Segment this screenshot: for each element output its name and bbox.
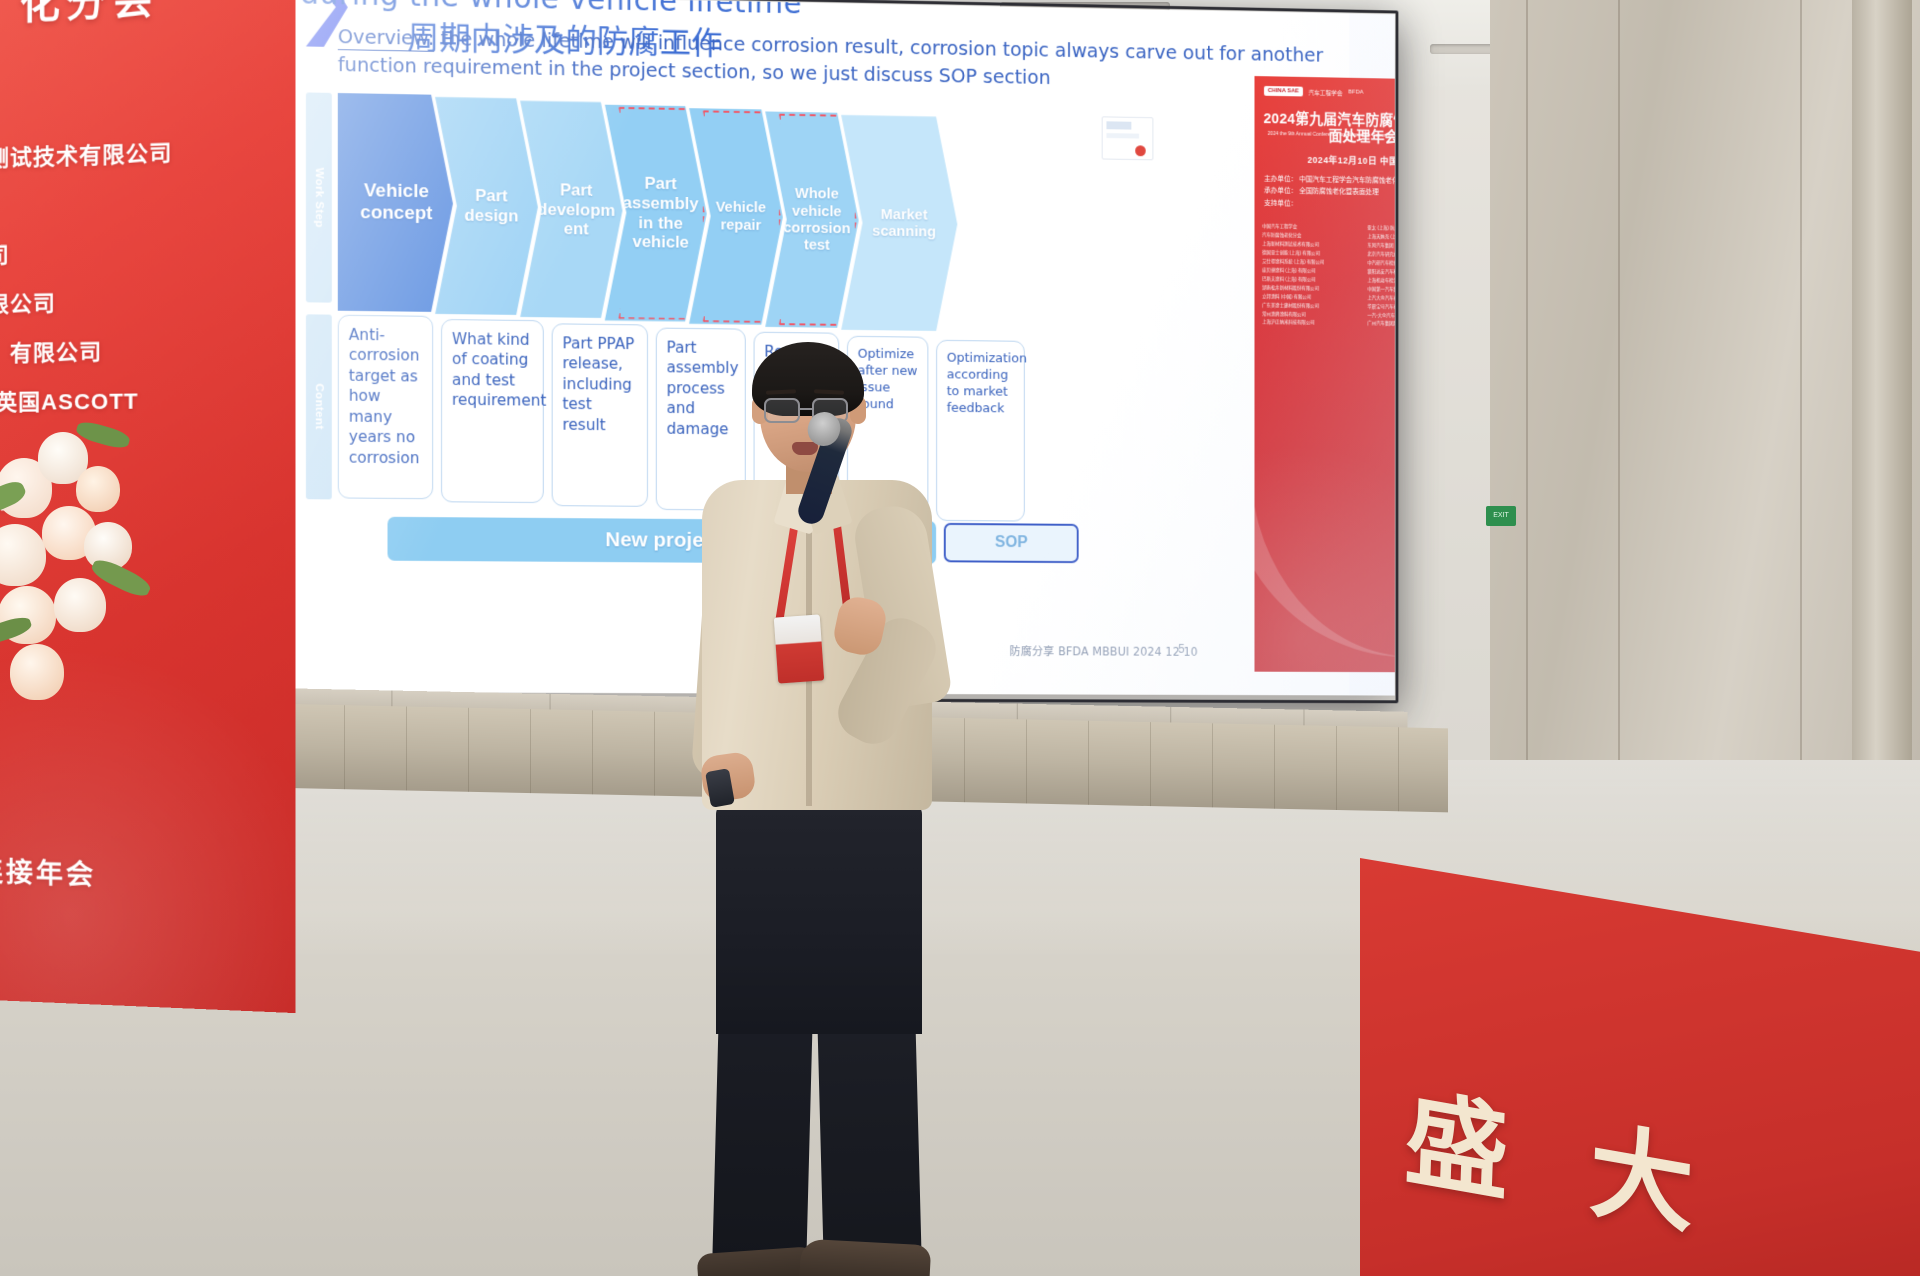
stage-panel-seam [1088, 721, 1089, 805]
content-box: Part PPAP release, including test result [552, 323, 648, 507]
stage-panel-seam [1274, 725, 1275, 809]
conference-banner-on-screen: CHINA SAE 汽车工程学会 BFDA 2024第九届汽车防腐蚀老化暨表面处… [1254, 76, 1394, 672]
stage-panel-seam [1026, 719, 1027, 803]
stage-panel-seam [468, 708, 469, 792]
work-step-chevron: Vehicle concept [338, 93, 453, 312]
stage-panel-seam [530, 709, 531, 793]
flower-arrangement [0, 418, 180, 748]
work-step-label: Vehicle repair [705, 199, 777, 234]
slide-page-number: 5 [1178, 642, 1184, 656]
mouth [792, 442, 818, 455]
glasses-bridge [800, 408, 814, 410]
stage-panel-seam [1336, 726, 1337, 810]
banner-sponsor-line: 广州汽车集团股份有限公司 [1367, 320, 1394, 330]
content-box-text: What kind of coating and test requiremen… [452, 330, 546, 410]
exit-sign: EXIT [1486, 506, 1516, 526]
flower-9 [10, 644, 64, 700]
flower-8 [54, 578, 106, 632]
work-step-label: Part assembly in the vehicle [620, 174, 700, 253]
row-label-work-step: Work Step [306, 92, 332, 302]
banner-title: 2024第九届汽车防腐蚀老化暨表面处理年会 [1262, 111, 1395, 148]
name-badge [774, 614, 824, 683]
row-label-content: Content [306, 314, 332, 499]
stage-panel-seam [344, 705, 345, 789]
shoe-right [799, 1239, 932, 1276]
work-step-label: Market scanning [857, 206, 952, 242]
banner-sponsor-line: 上海沪正纳米科技有限公司 [1262, 319, 1360, 329]
work-step-label: Part developm ent [536, 180, 617, 240]
stage-panel-seam [1398, 727, 1399, 811]
work-step-chevron: Market scanning [841, 115, 957, 331]
slide-footer-text: 防腐分享 BFDA MBBUI 2024 12 10 [1009, 643, 1197, 659]
content-box-text: Anti-corrosion target as how many years … [349, 326, 420, 467]
standee-bottom-text: 连接年会 [0, 850, 296, 900]
standee-company-line: （上海）有限公司 [0, 325, 296, 380]
standee-company-line: 海）有限公司 [0, 275, 296, 332]
content-box: Anti-corrosion target as how many years … [338, 315, 433, 499]
content-box-text: Part PPAP release, including test result [562, 334, 634, 434]
stage-panel-seam [406, 706, 407, 790]
work-step-label: Whole vehicle corrosion test [781, 185, 853, 255]
trousers [716, 804, 922, 1034]
banner-organizer-line: 支持单位： [1264, 198, 1395, 213]
stage-panel-seam [592, 710, 593, 794]
banner-date-location: 2024年12月10日 中国·扬州 [1262, 152, 1395, 168]
banner-organizers: 主办单位： 中国汽车工程学会汽车防腐蚀老化分会承办单位： 全国防腐蚀老化暨表面处… [1264, 174, 1395, 213]
speaker-person [660, 330, 990, 1050]
flower-4 [0, 524, 46, 586]
standee-company-line: 有限公司 [0, 224, 296, 282]
stage-panel-seam [654, 712, 655, 796]
overview-label: Overview: [338, 25, 435, 52]
stage-panel-seam [1212, 723, 1213, 807]
banner-logo-3: BFDA [1348, 89, 1363, 95]
work-step-label: Vehicle concept [346, 180, 447, 225]
conference-photo-scene: EXIT during the whole vehicle lifetime 周… [0, 0, 1920, 1276]
standee-title: 化分会 [20, 0, 296, 31]
slide-thumbnail-image [1102, 116, 1154, 160]
banner-logo-2: 汽车工程学会 [1308, 87, 1342, 96]
banner-logo-1: CHINA SAE [1264, 86, 1303, 96]
glasses-lens-left [764, 398, 800, 423]
stage-panel-seam [1150, 722, 1151, 806]
banner-logo-row: CHINA SAE 汽车工程学会 BFDA [1264, 86, 1395, 99]
work-step-label: Part design [451, 186, 532, 226]
exit-sign-label: EXIT [1486, 506, 1516, 526]
flower-3 [76, 466, 120, 512]
content-box: What kind of coating and test requiremen… [441, 319, 544, 503]
